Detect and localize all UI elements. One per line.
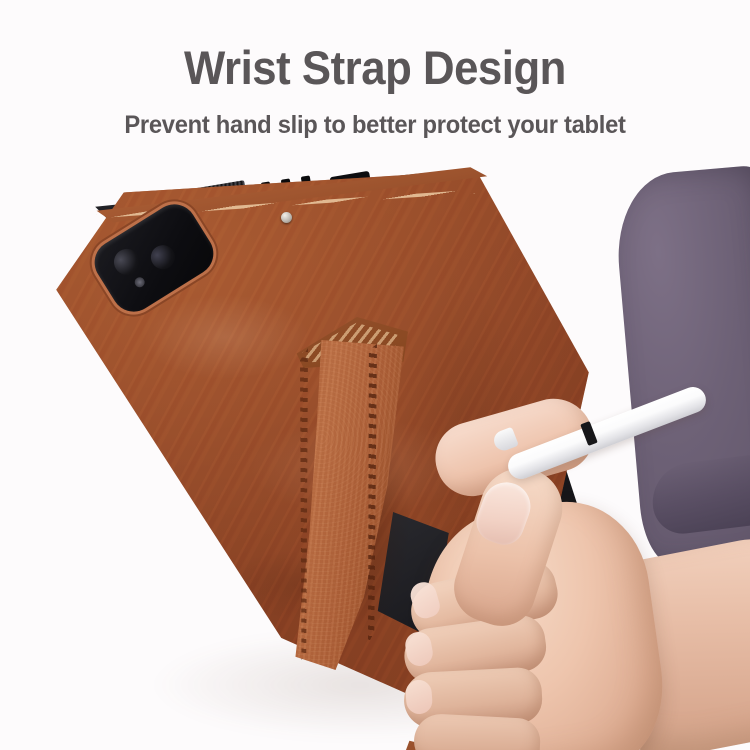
page-title: Wrist Strap Design [26,0,724,91]
camera-lens-secondary [146,241,179,274]
header: Wrist Strap Design Prevent hand slip to … [0,0,750,138]
person-hand [398,386,698,750]
fingernail-ring [405,679,433,715]
page-subtitle: Prevent hand slip to better protect your… [19,91,732,138]
snap-rivet [281,212,292,223]
camera-lens-primary [109,244,145,280]
camera-flash [133,275,147,289]
finger-pinky [413,713,542,750]
product-feature-banner: Wrist Strap Design Prevent hand slip to … [0,0,750,750]
product-photo [0,160,750,750]
